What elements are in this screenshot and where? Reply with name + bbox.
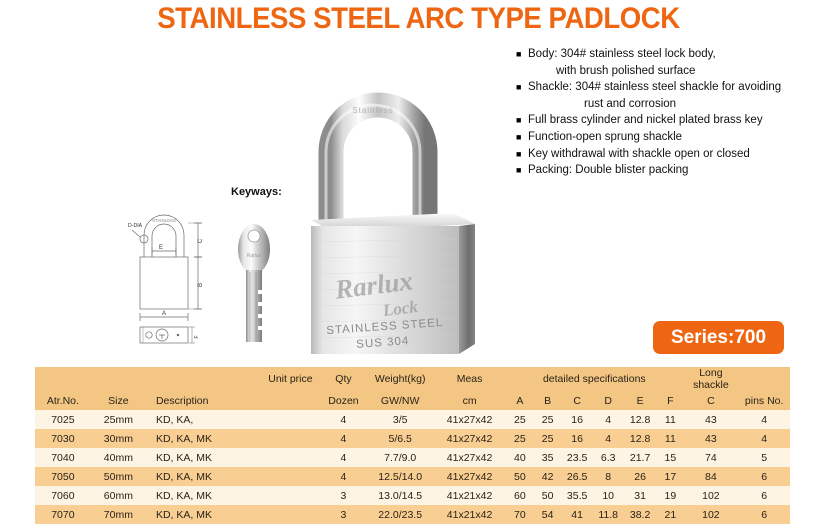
cell-size: 25mm bbox=[91, 410, 146, 429]
cell-f: 19 bbox=[657, 486, 683, 505]
col-header-long-shackle-c: C bbox=[683, 391, 738, 410]
list-item: ■ Key withdrawal with shackle open or cl… bbox=[516, 146, 834, 163]
col-header-size: Size bbox=[91, 391, 146, 410]
square-bullet-icon: ■ bbox=[516, 46, 528, 63]
cell-c: 16 bbox=[561, 410, 594, 429]
cell-long-shackle-c: 43 bbox=[683, 410, 738, 429]
drawing-label-b: B bbox=[198, 283, 204, 287]
drawing-label-c: C bbox=[198, 238, 204, 243]
key-image: Rarlux bbox=[232, 218, 276, 348]
square-bullet-icon: ■ bbox=[516, 129, 528, 146]
cell-meas: 41x27x42 bbox=[434, 410, 505, 429]
cell-size: 40mm bbox=[91, 448, 146, 467]
cell-atr-no: 7025 bbox=[35, 410, 91, 429]
table-row: 7050 50mm KD, KA, MK 4 12.5/14.0 41x27x4… bbox=[35, 467, 790, 486]
feature-text: Shackle: 304# stainless steel shackle fo… bbox=[528, 79, 781, 96]
hdr-long-shackle: Long shackle bbox=[683, 367, 738, 391]
cell-atr-no: 7030 bbox=[35, 429, 91, 448]
cell-a: 70 bbox=[505, 505, 534, 524]
drawing-label-f: F bbox=[194, 335, 200, 338]
feature-text: with brush polished surface bbox=[556, 63, 695, 80]
table-header-group-row: Unit price Qty Weight(kg) Meas detailed … bbox=[35, 367, 790, 391]
square-bullet-icon: ■ bbox=[516, 79, 528, 96]
hdr-blank-pins bbox=[738, 367, 790, 391]
cell-a: 25 bbox=[505, 410, 534, 429]
table-row: 7070 70mm KD, KA, MK 3 22.0/23.5 41x21x4… bbox=[35, 505, 790, 524]
cell-b: 35 bbox=[535, 448, 561, 467]
list-item: ■ Shackle: 304# stainless steel shackle … bbox=[516, 79, 834, 96]
page-title: STAINLESS STEEL ARC TYPE PADLOCK bbox=[33, 2, 803, 36]
padlock-line-drawing-svg: D-DIA E A C B F STAINLESS bbox=[120, 205, 220, 345]
cell-d: 4 bbox=[593, 410, 622, 429]
square-bullet-icon: ■ bbox=[516, 146, 528, 163]
cell-b: 42 bbox=[535, 467, 561, 486]
col-header-pins-no: pins No. bbox=[738, 391, 790, 410]
cell-d: 4 bbox=[593, 429, 622, 448]
col-header-dozen: Dozen bbox=[321, 391, 367, 410]
table-row: 7030 30mm KD, KA, MK 4 5/6.5 41x27x42 25… bbox=[35, 429, 790, 448]
cell-b: 50 bbox=[535, 486, 561, 505]
cell-atr-no: 7070 bbox=[35, 505, 91, 524]
cell-long-shackle-c: 84 bbox=[683, 467, 738, 486]
col-header-d: D bbox=[593, 391, 622, 410]
cell-atr-no: 7060 bbox=[35, 486, 91, 505]
cell-description: KD, KA, MK bbox=[146, 429, 260, 448]
cell-meas: 41x21x42 bbox=[434, 486, 505, 505]
cell-b: 25 bbox=[535, 429, 561, 448]
col-header-description: Description bbox=[146, 391, 260, 410]
cell-d: 11.8 bbox=[593, 505, 622, 524]
square-bullet-icon: ■ bbox=[516, 112, 528, 129]
col-header-c: C bbox=[561, 391, 594, 410]
cell-c: 26.5 bbox=[561, 467, 594, 486]
cell-c: 23.5 bbox=[561, 448, 594, 467]
table-row: 7025 25mm KD, KA, 4 3/5 41x27x42 25 25 1… bbox=[35, 410, 790, 429]
cell-qty-dozen: 4 bbox=[321, 467, 367, 486]
cell-long-shackle-c: 43 bbox=[683, 429, 738, 448]
feature-text: Key withdrawal with shackle open or clos… bbox=[528, 146, 750, 163]
cell-long-shackle-c: 102 bbox=[683, 486, 738, 505]
cell-e: 12.8 bbox=[623, 429, 657, 448]
cell-unit-price bbox=[260, 410, 320, 429]
cell-d: 10 bbox=[593, 486, 622, 505]
cell-qty-dozen: 3 bbox=[321, 505, 367, 524]
cell-pins-no: 4 bbox=[738, 410, 790, 429]
col-header-atr-no: Atr.No. bbox=[35, 391, 91, 410]
hdr-blank-desc bbox=[146, 367, 260, 391]
cell-size: 70mm bbox=[91, 505, 146, 524]
cell-pins-no: 4 bbox=[738, 429, 790, 448]
cell-meas: 41x27x42 bbox=[434, 467, 505, 486]
hdr-meas: Meas bbox=[434, 367, 505, 391]
table-row: 7060 60mm KD, KA, MK 3 13.0/14.5 41x21x4… bbox=[35, 486, 790, 505]
cell-pins-no: 6 bbox=[738, 486, 790, 505]
cell-f: 11 bbox=[657, 429, 683, 448]
feature-text: Function-open sprung shackle bbox=[528, 129, 682, 146]
list-item: ■ Packing: Double blister packing bbox=[516, 162, 834, 179]
list-item: ■ Full brass cylinder and nickel plated … bbox=[516, 112, 834, 129]
col-header-a: A bbox=[505, 391, 534, 410]
square-bullet-icon: ■ bbox=[516, 162, 528, 179]
feature-text: rust and corrosion bbox=[584, 96, 676, 113]
cell-f: 15 bbox=[657, 448, 683, 467]
cell-unit-price bbox=[260, 505, 320, 524]
cell-weight: 13.0/14.5 bbox=[366, 486, 434, 505]
cell-size: 30mm bbox=[91, 429, 146, 448]
cell-a: 25 bbox=[505, 429, 534, 448]
cell-b: 25 bbox=[535, 410, 561, 429]
table-header-row: Atr.No. Size Description Dozen GW/NW cm … bbox=[35, 391, 790, 410]
cell-description: KD, KA, MK bbox=[146, 486, 260, 505]
keyways-label: Keyways: bbox=[231, 186, 282, 198]
cell-unit-price bbox=[260, 486, 320, 505]
hdr-blank-size bbox=[91, 367, 146, 391]
cell-pins-no: 5 bbox=[738, 448, 790, 467]
cell-unit-price bbox=[260, 448, 320, 467]
cell-f: 21 bbox=[657, 505, 683, 524]
hdr-blank-atr bbox=[35, 367, 91, 391]
cell-description: KD, KA, MK bbox=[146, 448, 260, 467]
cell-a: 60 bbox=[505, 486, 534, 505]
cell-e: 12.8 bbox=[623, 410, 657, 429]
cell-atr-no: 7040 bbox=[35, 448, 91, 467]
col-header-f: F bbox=[657, 391, 683, 410]
cell-c: 41 bbox=[561, 505, 594, 524]
col-header-e: E bbox=[623, 391, 657, 410]
key-brand-mark: Rarlux bbox=[247, 253, 262, 259]
drawing-label-e: E bbox=[159, 245, 163, 251]
cell-size: 60mm bbox=[91, 486, 146, 505]
hdr-qty: Qty bbox=[321, 367, 367, 391]
hdr-weight: Weight(kg) bbox=[366, 367, 434, 391]
cell-e: 38.2 bbox=[623, 505, 657, 524]
padlock-product-image: Stainless Rarlux Lock STAINLESS STEEL SU… bbox=[303, 82, 483, 360]
cell-f: 11 bbox=[657, 410, 683, 429]
cell-description: KD, KA, MK bbox=[146, 505, 260, 524]
cell-weight: 7.7/9.0 bbox=[366, 448, 434, 467]
cell-e: 21.7 bbox=[623, 448, 657, 467]
col-header-cm: cm bbox=[434, 391, 505, 410]
list-item: ■ Body: 304# stainless steel lock body, bbox=[516, 46, 834, 63]
cell-pins-no: 6 bbox=[738, 467, 790, 486]
cell-a: 50 bbox=[505, 467, 534, 486]
cell-qty-dozen: 4 bbox=[321, 410, 367, 429]
col-header-gw-nw: GW/NW bbox=[366, 391, 434, 410]
cell-weight: 22.0/23.5 bbox=[366, 505, 434, 524]
cell-unit-price bbox=[260, 429, 320, 448]
table-row: 7040 40mm KD, KA, MK 4 7.7/9.0 41x27x42 … bbox=[35, 448, 790, 467]
feature-text: Packing: Double blister packing bbox=[528, 162, 688, 179]
cell-qty-dozen: 4 bbox=[321, 448, 367, 467]
cell-qty-dozen: 4 bbox=[321, 429, 367, 448]
specification-table: Unit price Qty Weight(kg) Meas detailed … bbox=[35, 367, 790, 524]
cell-qty-dozen: 3 bbox=[321, 486, 367, 505]
cell-description: KD, KA, bbox=[146, 410, 260, 429]
list-item: rust and corrosion bbox=[516, 96, 834, 113]
drawing-label-a: A bbox=[162, 311, 166, 317]
cell-meas: 41x21x42 bbox=[434, 505, 505, 524]
cell-description: KD, KA, MK bbox=[146, 467, 260, 486]
drawing-shackle-mark: STAINLESS bbox=[152, 218, 176, 223]
list-item: with brush polished surface bbox=[516, 63, 834, 80]
technical-drawing: D-DIA E A C B F STAINLESS bbox=[120, 205, 220, 345]
cell-pins-no: 6 bbox=[738, 505, 790, 524]
feature-list: ■ Body: 304# stainless steel lock body, … bbox=[516, 46, 834, 179]
list-item: ■ Function-open sprung shackle bbox=[516, 129, 834, 146]
cell-d: 8 bbox=[593, 467, 622, 486]
drawing-label-d-dia: D-DIA bbox=[128, 223, 143, 229]
cell-d: 6.3 bbox=[593, 448, 622, 467]
cell-f: 17 bbox=[657, 467, 683, 486]
cell-a: 40 bbox=[505, 448, 534, 467]
hdr-detailed-specifications: detailed specifications bbox=[505, 367, 683, 391]
cell-atr-no: 7050 bbox=[35, 467, 91, 486]
cell-unit-price bbox=[260, 467, 320, 486]
cell-meas: 41x27x42 bbox=[434, 448, 505, 467]
series-badge: Series:700 bbox=[653, 321, 784, 354]
col-header-unit-price bbox=[260, 391, 320, 410]
cell-size: 50mm bbox=[91, 467, 146, 486]
hdr-unit-price: Unit price bbox=[260, 367, 320, 391]
cell-long-shackle-c: 74 bbox=[683, 448, 738, 467]
cell-weight: 3/5 bbox=[366, 410, 434, 429]
col-header-b: B bbox=[535, 391, 561, 410]
cell-meas: 41x27x42 bbox=[434, 429, 505, 448]
cell-e: 26 bbox=[623, 467, 657, 486]
cell-e: 31 bbox=[623, 486, 657, 505]
cell-b: 54 bbox=[535, 505, 561, 524]
cell-weight: 12.5/14.0 bbox=[366, 467, 434, 486]
cell-weight: 5/6.5 bbox=[366, 429, 434, 448]
cell-long-shackle-c: 102 bbox=[683, 505, 738, 524]
cell-c: 16 bbox=[561, 429, 594, 448]
cell-c: 35.5 bbox=[561, 486, 594, 505]
feature-text: Body: 304# stainless steel lock body, bbox=[528, 46, 716, 63]
key-svg: Rarlux bbox=[232, 218, 276, 348]
shackle-stamp-text: Stainless bbox=[352, 106, 393, 115]
padlock-svg: Stainless Rarlux Lock STAINLESS STEEL SU… bbox=[303, 82, 483, 360]
feature-text: Full brass cylinder and nickel plated br… bbox=[528, 112, 763, 129]
